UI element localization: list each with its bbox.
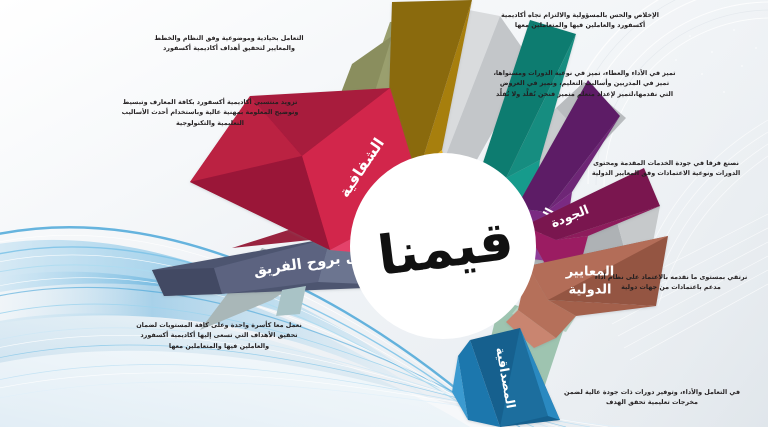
- callout-commitment: التعامل بحيادية وموضوعية وفق النظام والخ…: [143, 33, 315, 54]
- callout-excellence: تميز في الأداء والعطاء، تميز في نوعية ال…: [492, 68, 677, 99]
- infographic-canvas: الالتزام الانتماء التميز الجودة: [0, 0, 768, 427]
- callout-belonging: الإخلاص والحس بالمسؤولية والالتزام تجاه …: [495, 10, 665, 31]
- background-graphic: [0, 0, 768, 427]
- callout-credibility: في التعامل والأداء، وتوفير دورات ذات جود…: [562, 387, 742, 408]
- callout-quality: نصنع فرقا في جودة الخدمات المقدمة ومحتوى…: [580, 158, 752, 179]
- callout-teamwork: نعمل معا كأسرة واحدة وعلى كافة المستويات…: [128, 320, 310, 351]
- callout-transparency: تزويد منتسبي أكاديمية أكسفورد بكافة المع…: [121, 97, 299, 128]
- callout-standards: نرتقي بمستوى ما نقدمه بالاعتماد على نظام…: [588, 272, 754, 293]
